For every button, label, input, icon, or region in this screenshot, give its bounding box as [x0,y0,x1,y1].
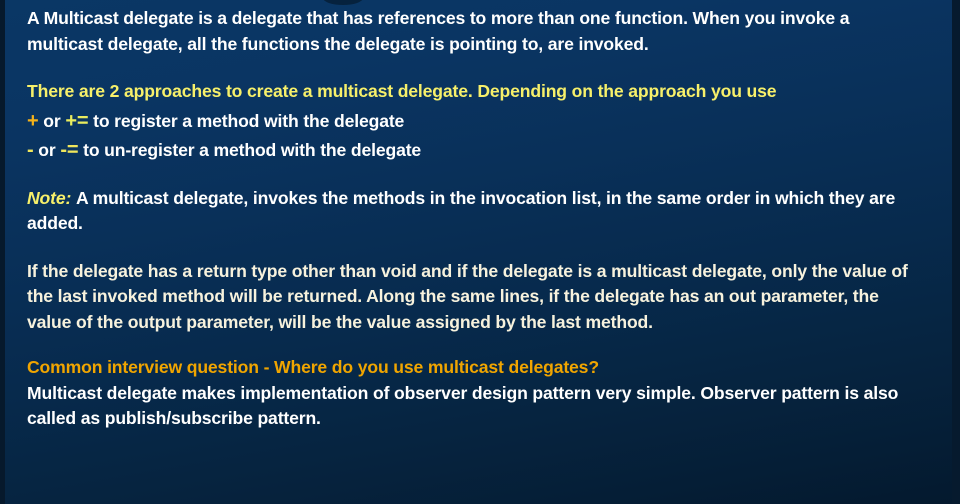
note-label: Note: [27,188,71,208]
minus-equals-operator-icon: -= [60,139,78,161]
return-type-paragraph: If the delegate has a return type other … [27,259,924,336]
spacer [27,237,924,259]
register-or-label: or [43,111,60,131]
approaches-heading: There are 2 approaches to create a multi… [27,79,924,105]
note-paragraph: Note: A multicast delegate, invokes the … [27,186,924,237]
intro-paragraph: A Multicast delegate is a delegate that … [27,6,924,57]
slide-canvas: A Multicast delegate is a delegate that … [0,0,960,504]
unregister-or-label: or [38,140,55,160]
spacer [27,57,924,79]
plus-operator-icon: + [27,110,39,132]
interview-answer-paragraph: Multicast delegate makes implementation … [27,381,924,432]
slide-content: A Multicast delegate is a delegate that … [5,0,952,432]
plus-equals-operator-icon: += [65,110,88,132]
unregister-line: - or -= to un-register a method with the… [27,138,924,164]
register-line: + or += to register a method with the de… [27,109,924,135]
spacer [27,164,924,186]
spacer [27,335,924,355]
interview-question-heading: Common interview question - Where do you… [27,355,924,381]
register-line-text: to register a method with the delegate [93,111,404,131]
note-text: A multicast delegate, invokes the method… [27,188,895,234]
unregister-line-text: to un-register a method with the delegat… [83,140,421,160]
